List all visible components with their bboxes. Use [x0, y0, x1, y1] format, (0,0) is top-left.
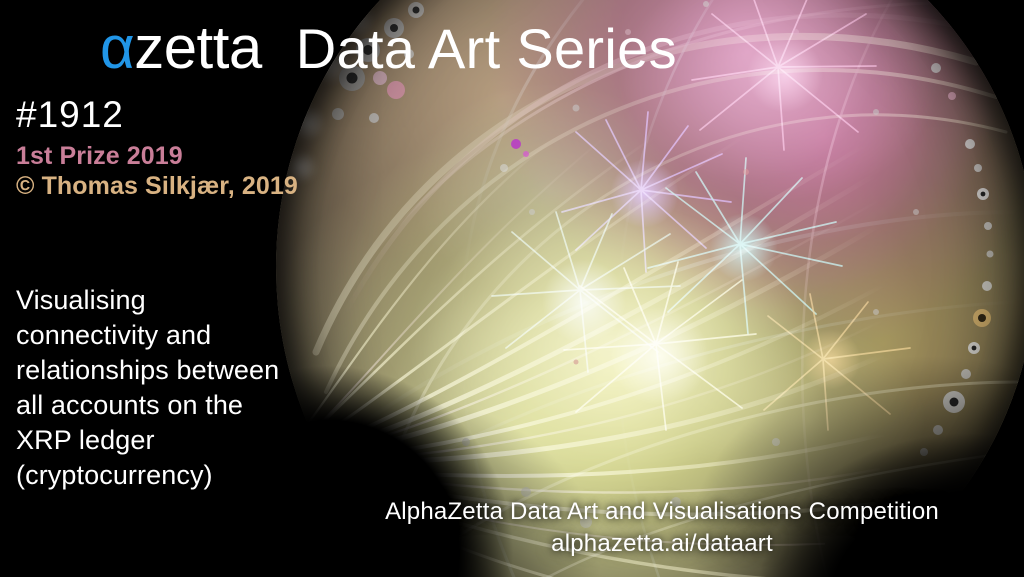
prize-badge: 1st Prize 2019 [16, 141, 316, 172]
alphazetta-logo: αzetta [100, 18, 262, 78]
caption-line-1: AlphaZetta Data Art and Visualisations C… [385, 498, 939, 525]
alpha-glyph-icon: α [100, 14, 134, 81]
hub-glow-orange [800, 329, 861, 391]
artwork-arc-layer [276, 0, 1024, 577]
entry-info-block: #1912 1st Prize 2019 © Thomas Silkjær, 2… [16, 96, 316, 202]
entry-number: #1912 [16, 96, 316, 135]
hub-glow-yellow [610, 306, 709, 406]
poster-canvas: αzetta Data Art Series #1912 1st Prize 2… [0, 0, 1024, 577]
series-title: Data Art Series [296, 21, 677, 77]
caption-line-2[interactable]: alphazetta.ai/dataart [300, 528, 1024, 560]
brand-header: αzetta Data Art Series [100, 18, 677, 78]
artwork-hub-burst-layer [276, 0, 1024, 577]
artwork-haze-layer [276, 0, 1024, 577]
artwork-rim-shadow [276, 0, 1024, 577]
competition-caption: AlphaZetta Data Art and Visualisations C… [300, 496, 1024, 559]
logo-wordmark: zetta [134, 14, 262, 81]
copyright-line: © Thomas Silkjær, 2019 [16, 171, 301, 202]
artwork-vignette [276, 0, 1024, 577]
hub-glow-cyan [709, 213, 777, 282]
artwork-base-layer [276, 0, 1024, 577]
hub-glow-violet [610, 159, 678, 228]
hub-glow-magenta [747, 36, 823, 113]
artwork-disc [276, 0, 1024, 577]
hub-glow-pale-cyan [542, 259, 626, 344]
artwork-visualisation [276, 0, 1024, 577]
entry-description: Visualising connectivity and relationshi… [16, 283, 288, 494]
artwork-rim-nodes [276, 0, 1024, 577]
